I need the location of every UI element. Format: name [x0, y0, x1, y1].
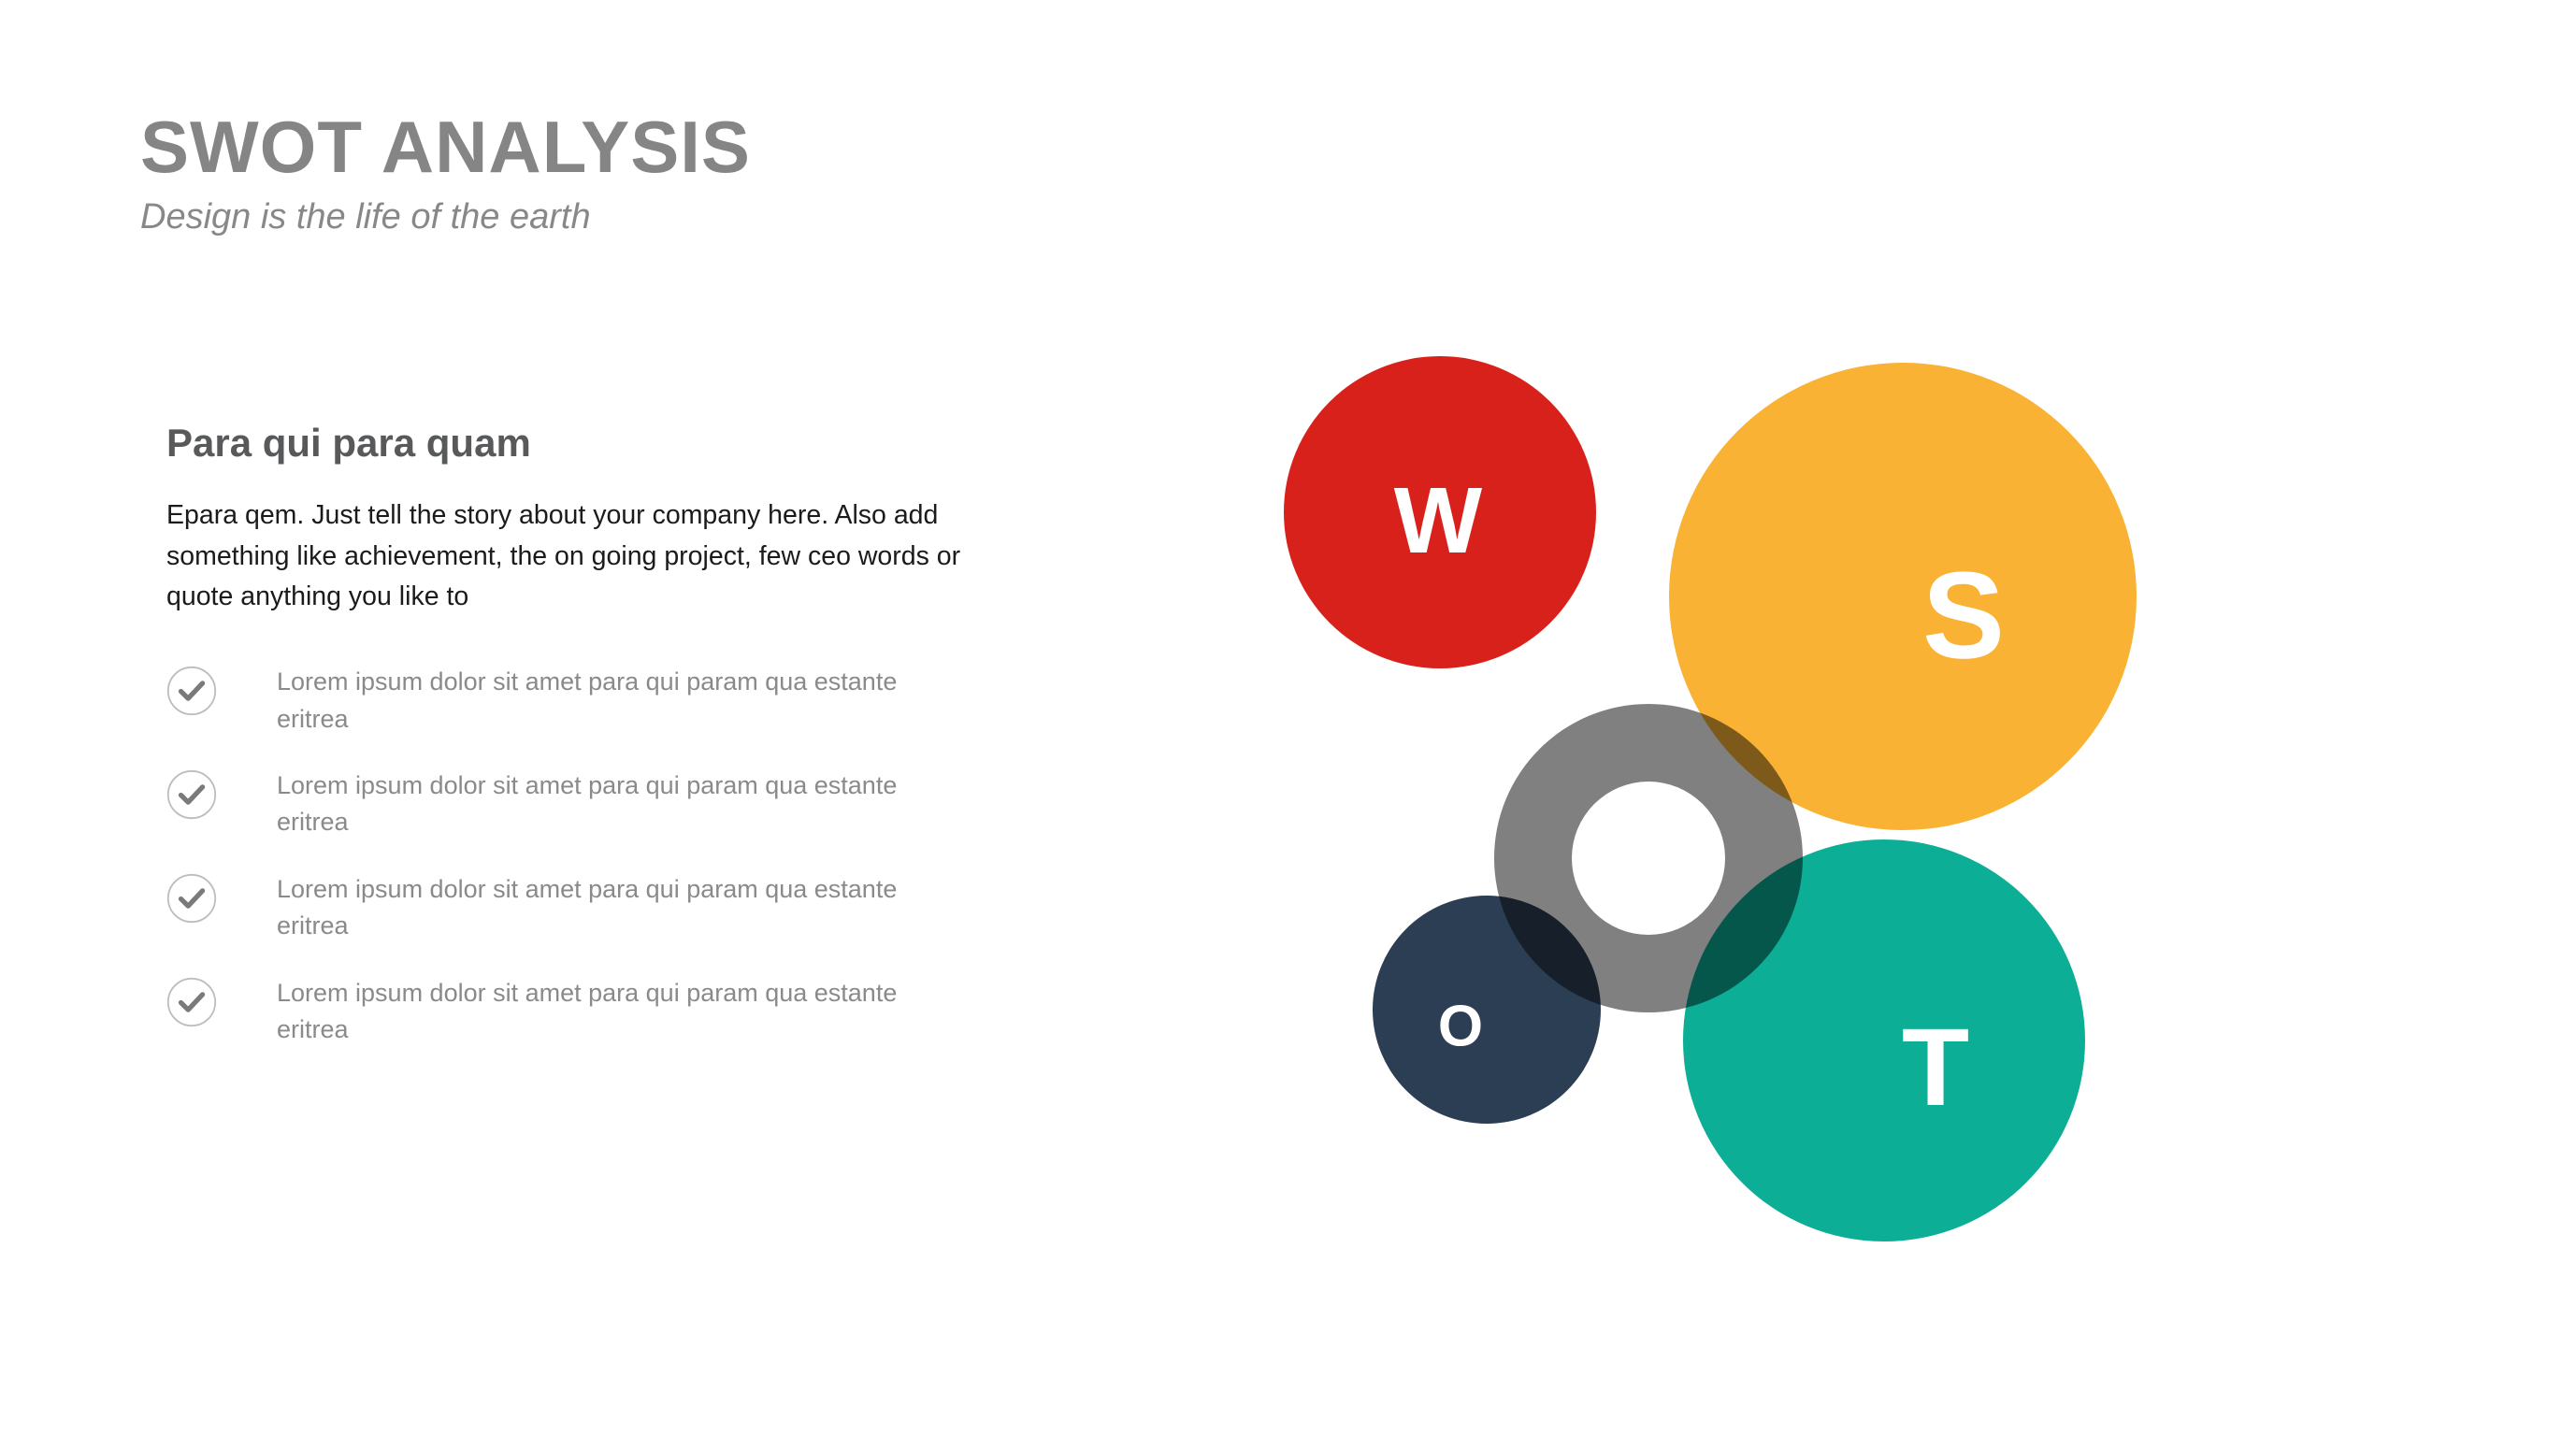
content-column: Para qui para quam Epara qem. Just tell …: [166, 421, 1055, 1048]
swot-label-s: S: [1922, 547, 2005, 684]
center-donut: [1206, 308, 2197, 1299]
content-heading: Para qui para quam: [166, 421, 1055, 466]
list-item: Lorem ipsum dolor sit amet para qui para…: [166, 975, 1055, 1049]
slide-header: SWOT ANALYSIS Design is the life of the …: [140, 110, 1169, 237]
list-item: Lorem ipsum dolor sit amet para qui para…: [166, 871, 1055, 945]
list-item-label: Lorem ipsum dolor sit amet para qui para…: [277, 768, 931, 841]
check-circle-icon: [166, 666, 217, 716]
swot-diagram: W S O T: [1206, 308, 2197, 1299]
list-item-label: Lorem ipsum dolor sit amet para qui para…: [277, 871, 931, 945]
swot-analysis-slide: SWOT ANALYSIS Design is the life of the …: [0, 0, 2576, 1449]
swot-label-t: T: [1902, 1006, 1969, 1129]
check-circle-icon: [166, 769, 217, 820]
swot-label-w: W: [1394, 468, 1483, 573]
swot-label-o: O: [1438, 995, 1483, 1059]
list-item: Lorem ipsum dolor sit amet para qui para…: [166, 664, 1055, 738]
check-circle-icon: [166, 977, 217, 1027]
page-subtitle: Design is the life of the earth: [140, 198, 1169, 237]
check-circle-icon: [166, 873, 217, 924]
page-title: SWOT ANALYSIS: [140, 110, 1169, 185]
list-item: Lorem ipsum dolor sit amet para qui para…: [166, 768, 1055, 841]
bullet-list: Lorem ipsum dolor sit amet para qui para…: [166, 664, 1055, 1048]
list-item-label: Lorem ipsum dolor sit amet para qui para…: [277, 664, 931, 738]
content-paragraph: Epara qem. Just tell the story about you…: [166, 495, 989, 617]
list-item-label: Lorem ipsum dolor sit amet para qui para…: [277, 975, 931, 1049]
